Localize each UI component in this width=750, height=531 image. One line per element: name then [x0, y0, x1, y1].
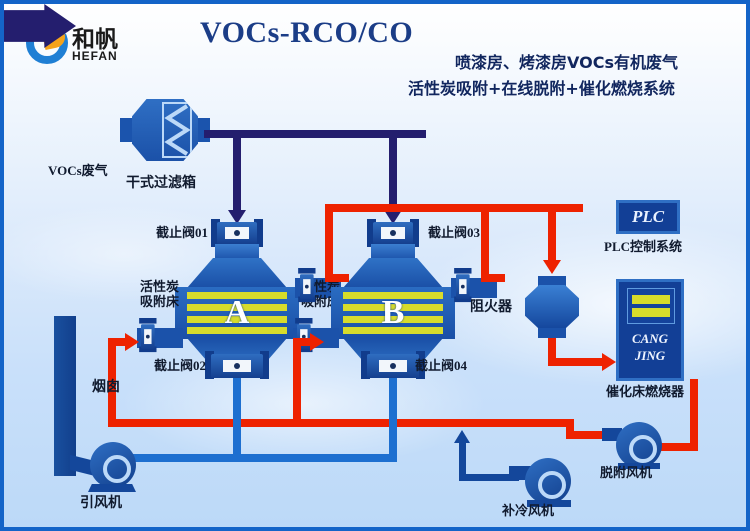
adsorber-a-left-label-l2: 吸附床 — [140, 294, 179, 309]
pipe-hot-to-a — [325, 274, 349, 282]
arrester-body — [525, 285, 579, 329]
subtitle-line-1: 喷漆房、烤漆房VOCs有机废气 — [455, 54, 678, 72]
valve-01[interactable] — [207, 222, 267, 244]
induced-fan-label: 引风机 — [80, 496, 122, 512]
arrow-right-burner — [602, 353, 616, 371]
valve-03-label: 截止阀03 — [428, 226, 480, 241]
pipe-burner-out-down — [690, 379, 698, 451]
adsorber-b-letter: B — [331, 288, 455, 338]
flange-top — [139, 318, 156, 324]
valve-02-label: 截止阀02 — [154, 359, 206, 374]
valve-04-label: 截止阀04 — [415, 359, 467, 374]
arrow-right-bed-a — [125, 333, 139, 351]
valve-side-b-right[interactable] — [456, 268, 470, 293]
filter-media-icon — [162, 102, 192, 158]
subtitle-line-2: 活性炭吸附+在线脱附+催化燃烧系统 — [408, 80, 675, 98]
brand-name-en: HEFAN — [72, 49, 118, 63]
valve-03-indicator — [390, 230, 396, 236]
induced-fan-base — [88, 484, 136, 492]
valve-03[interactable] — [363, 222, 423, 244]
pipe-cooling-riser — [459, 441, 466, 477]
burner-label: 催化床燃烧器 — [606, 385, 684, 400]
diagram-canvas: 和帆 HEFAN VOCs-RCO/CO 喷漆房、烤漆房VOCs有机废气 活性炭… — [0, 0, 750, 531]
chimney-label: 烟囱 — [92, 380, 120, 396]
pipe-hot-return-trunk — [108, 419, 574, 427]
desorption-fan-label: 脱附风机 — [600, 466, 652, 481]
plc-label: PLC控制系统 — [604, 240, 682, 255]
pipe-arrester-to-burner — [548, 358, 606, 366]
pipe-return-riser-b — [293, 345, 301, 423]
catalyst-band — [632, 295, 670, 304]
pipe-hot-down-b — [481, 204, 489, 282]
adsorber-b-neck — [371, 244, 415, 260]
arrow-right-bed-b — [310, 333, 324, 351]
pipe-to-valve01 — [233, 130, 241, 214]
desorption-fan — [602, 422, 664, 468]
plc-panel[interactable]: PLC — [616, 200, 680, 234]
desorption-fan-hub-icon — [629, 435, 657, 463]
dry-filter-box — [120, 99, 210, 161]
adsorber-a-left-label: 活性炭 吸附床 — [140, 280, 176, 309]
burner-brand-l2: JING — [635, 348, 665, 363]
flange-top — [298, 268, 315, 274]
pipe-clean-from-b — [389, 366, 397, 462]
adsorber-a-left-label-l1: 活性炭 — [140, 279, 179, 294]
pipe-hot-header — [325, 204, 583, 212]
pipe-clean-from-a — [233, 366, 241, 462]
adsorber-b-top-cone — [343, 258, 443, 288]
arrester-inlet — [538, 276, 566, 286]
arrow-up-cooling — [454, 430, 470, 443]
flame-arrester-label: 阻火器 — [470, 300, 512, 316]
voc-inlet-label: VOCs废气 — [48, 164, 108, 179]
flame-arrester — [525, 276, 579, 338]
flange-top — [295, 318, 312, 324]
induced-draft-fan — [70, 438, 136, 492]
valve-indicator — [146, 335, 150, 339]
catalyst-band — [632, 308, 670, 317]
cooling-fan — [509, 456, 571, 506]
cooling-fan-hub-icon — [538, 471, 566, 499]
induced-fan-hub-icon — [103, 455, 131, 483]
valve-02[interactable] — [203, 354, 271, 378]
flange-top — [454, 268, 471, 274]
adsorber-a-letter: A — [175, 288, 299, 338]
adsorber-a-top-cone — [187, 258, 287, 288]
pipe-clean-trunk — [130, 454, 397, 462]
pipe-hot-down-a — [325, 204, 333, 282]
valve-04-indicator — [390, 363, 396, 369]
dry-filter-label: 干式过滤箱 — [126, 176, 196, 192]
burner-brand-text: CANG JING — [619, 330, 681, 364]
valve-01-label: 截止阀01 — [156, 226, 208, 241]
burner-brand-l1: CANG — [632, 331, 668, 346]
valve-02-indicator — [234, 363, 240, 369]
valve-side-a-left[interactable] — [141, 318, 155, 343]
valve-01-indicator — [234, 230, 240, 236]
pipe-trunk-riser — [566, 419, 574, 439]
page-title: VOCs-RCO/CO — [200, 16, 413, 50]
burner-catalyst-window — [627, 288, 675, 324]
valve-indicator — [305, 285, 309, 289]
arrester-outlet — [538, 328, 566, 338]
pipe-to-valve03 — [389, 130, 397, 214]
adsorber-a-neck — [215, 244, 259, 260]
arrow-down-arrester — [543, 260, 561, 274]
pipe-hot-to-arrester — [548, 204, 556, 264]
cooling-fan-label: 补冷风机 — [502, 504, 554, 519]
valve-indicator — [461, 285, 465, 289]
filter-inlet-cap — [120, 118, 134, 142]
pipe-hot-to-b — [481, 274, 505, 282]
catalytic-burner: CANG JING — [616, 279, 684, 381]
filter-body — [132, 99, 198, 161]
plc-panel-text: PLC — [619, 203, 677, 231]
valve-side-a-right[interactable] — [300, 268, 314, 293]
